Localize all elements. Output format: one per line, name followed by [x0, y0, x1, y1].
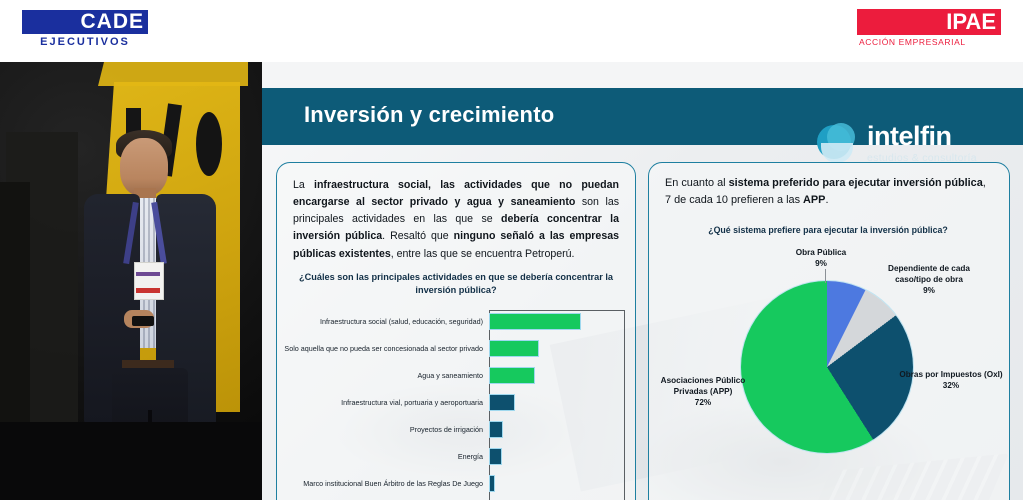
stage-yellow-graphic-top: [98, 62, 248, 86]
slide-top-margin: [262, 62, 1023, 88]
page-title: Inversión y crecimiento: [304, 102, 554, 128]
bar-chart-track: [489, 443, 629, 469]
bar-chart-bar: [489, 340, 539, 357]
speaker-badge: [134, 262, 164, 300]
intelfin-logo: intelfin estudios & consultoría: [815, 120, 1005, 166]
right-content-panel: En cuanto al sistema preferido para ejec…: [648, 162, 1010, 500]
ipae-logo: IPAE ACCIÓN EMPRESARIAL: [857, 9, 1001, 47]
paragraph-run: En cuanto al: [665, 177, 729, 189]
cade-logo-block: CADE: [22, 10, 148, 34]
pie-label-obra-publica: Obra Pública9%: [769, 247, 873, 269]
pie-label-dependiente: Dependiente de cada caso/tipo de obra9%: [871, 263, 987, 296]
paragraph-run: .: [825, 194, 828, 206]
ipae-logo-text: IPAE: [946, 9, 1001, 35]
paragraph-run: sistema preferido para ejecutar inversió…: [729, 177, 983, 189]
bar-chart-track: [489, 416, 629, 442]
paragraph-run: , entre las que se encuentra Petroperú.: [391, 248, 575, 260]
phone-icon: [132, 316, 154, 326]
bar-chart-category-label: Proyectos de irrigación: [283, 425, 489, 434]
bar-chart-bar: [489, 394, 515, 411]
paragraph-run: La: [293, 179, 314, 191]
paragraph-run: APP: [803, 194, 825, 206]
speaker-badge-stripe: [136, 288, 160, 293]
bar-chart-row: Infraestructura vial, portuaria y aeropo…: [283, 389, 629, 415]
bar-chart-row: Marco institucional Buen Árbitro de las …: [283, 470, 629, 496]
paragraph-run: . Resaltó que: [382, 230, 453, 242]
bar-chart: Infraestructura social (salud, educación…: [283, 308, 629, 500]
bar-chart-row: Infraestructura social (salud, educación…: [283, 308, 629, 334]
bar-chart-track: [489, 362, 629, 388]
sponsor-topbar: CADE EJECUTIVOS IPAE ACCIÓN EMPRESARIAL: [0, 0, 1023, 62]
stage-floor: [0, 422, 262, 500]
presentation-slide: Inversión y crecimiento intelfin estudio…: [262, 62, 1023, 500]
bar-chart-category-label: Solo aquella que no pueda ser concesiona…: [283, 344, 489, 353]
bar-chart-row: Energía: [283, 443, 629, 469]
pie-label-app: Asociaciones Público Privadas (APP)72%: [651, 375, 755, 408]
right-panel-paragraph: En cuanto al sistema preferido para ejec…: [665, 175, 991, 210]
intelfin-logo-name: intelfin: [867, 123, 977, 150]
pie-chart: Obra Pública9% Dependiente de cada caso/…: [649, 247, 1009, 500]
paragraph-run: infraestructura social, las actividades …: [293, 179, 619, 208]
intelfin-circle-icon: [815, 121, 859, 165]
bar-chart-category-label: Infraestructura social (salud, educación…: [283, 317, 489, 326]
bar-chart-category-label: Marco institucional Buen Árbitro de las …: [283, 479, 489, 488]
bar-chart-bar: [489, 448, 502, 465]
bar-chart-bar: [489, 367, 535, 384]
pie-leader-line: [825, 269, 826, 283]
speaker-video-feed: [0, 62, 262, 500]
bar-chart-row: Proyectos de irrigación: [283, 416, 629, 442]
screen: CADE EJECUTIVOS IPAE ACCIÓN EMPRESARIAL: [0, 0, 1023, 500]
pie-chart-graphic: [741, 281, 913, 453]
bar-chart-category-label: Agua y saneamiento: [283, 371, 489, 380]
speaker-badge-stripe: [136, 272, 160, 276]
bar-chart-category-label: Infraestructura vial, portuaria y aeropo…: [283, 398, 489, 407]
bar-chart-bar: [489, 313, 581, 330]
bar-chart-row: Agua y saneamiento: [283, 362, 629, 388]
bar-chart-track: [489, 470, 629, 496]
bar-chart-track: [489, 389, 629, 415]
left-content-panel: La infraestructura social, las actividad…: [276, 162, 636, 500]
ipae-logo-subtitle: ACCIÓN EMPRESARIAL: [857, 37, 1001, 47]
cade-logo-text: CADE: [80, 10, 148, 34]
bar-chart-question: ¿Cuáles son las principales actividades …: [295, 271, 617, 298]
bar-chart-bar: [489, 421, 503, 438]
cade-logo-subtitle: EJECUTIVOS: [22, 36, 148, 48]
bar-chart-row: Solo aquella que no pueda ser concesiona…: [283, 335, 629, 361]
cade-logo: CADE EJECUTIVOS: [22, 10, 148, 48]
bar-chart-category-label: Energía: [283, 452, 489, 461]
slide-title-band: Inversión y crecimiento intelfin estudio…: [262, 88, 1023, 145]
ipae-logo-block: IPAE: [857, 9, 1001, 35]
stage-pillar: [0, 182, 30, 442]
pie-chart-question: ¿Qué sistema prefiere para ejecutar la i…: [665, 225, 991, 235]
bar-chart-track: [489, 335, 629, 361]
pie-label-obras-por-impuestos: Obras por Impuestos (OxI)32%: [899, 369, 1003, 391]
left-panel-paragraph: La infraestructura social, las actividad…: [293, 177, 619, 263]
bar-chart-bar: [489, 475, 495, 492]
bar-chart-track: [489, 308, 629, 334]
